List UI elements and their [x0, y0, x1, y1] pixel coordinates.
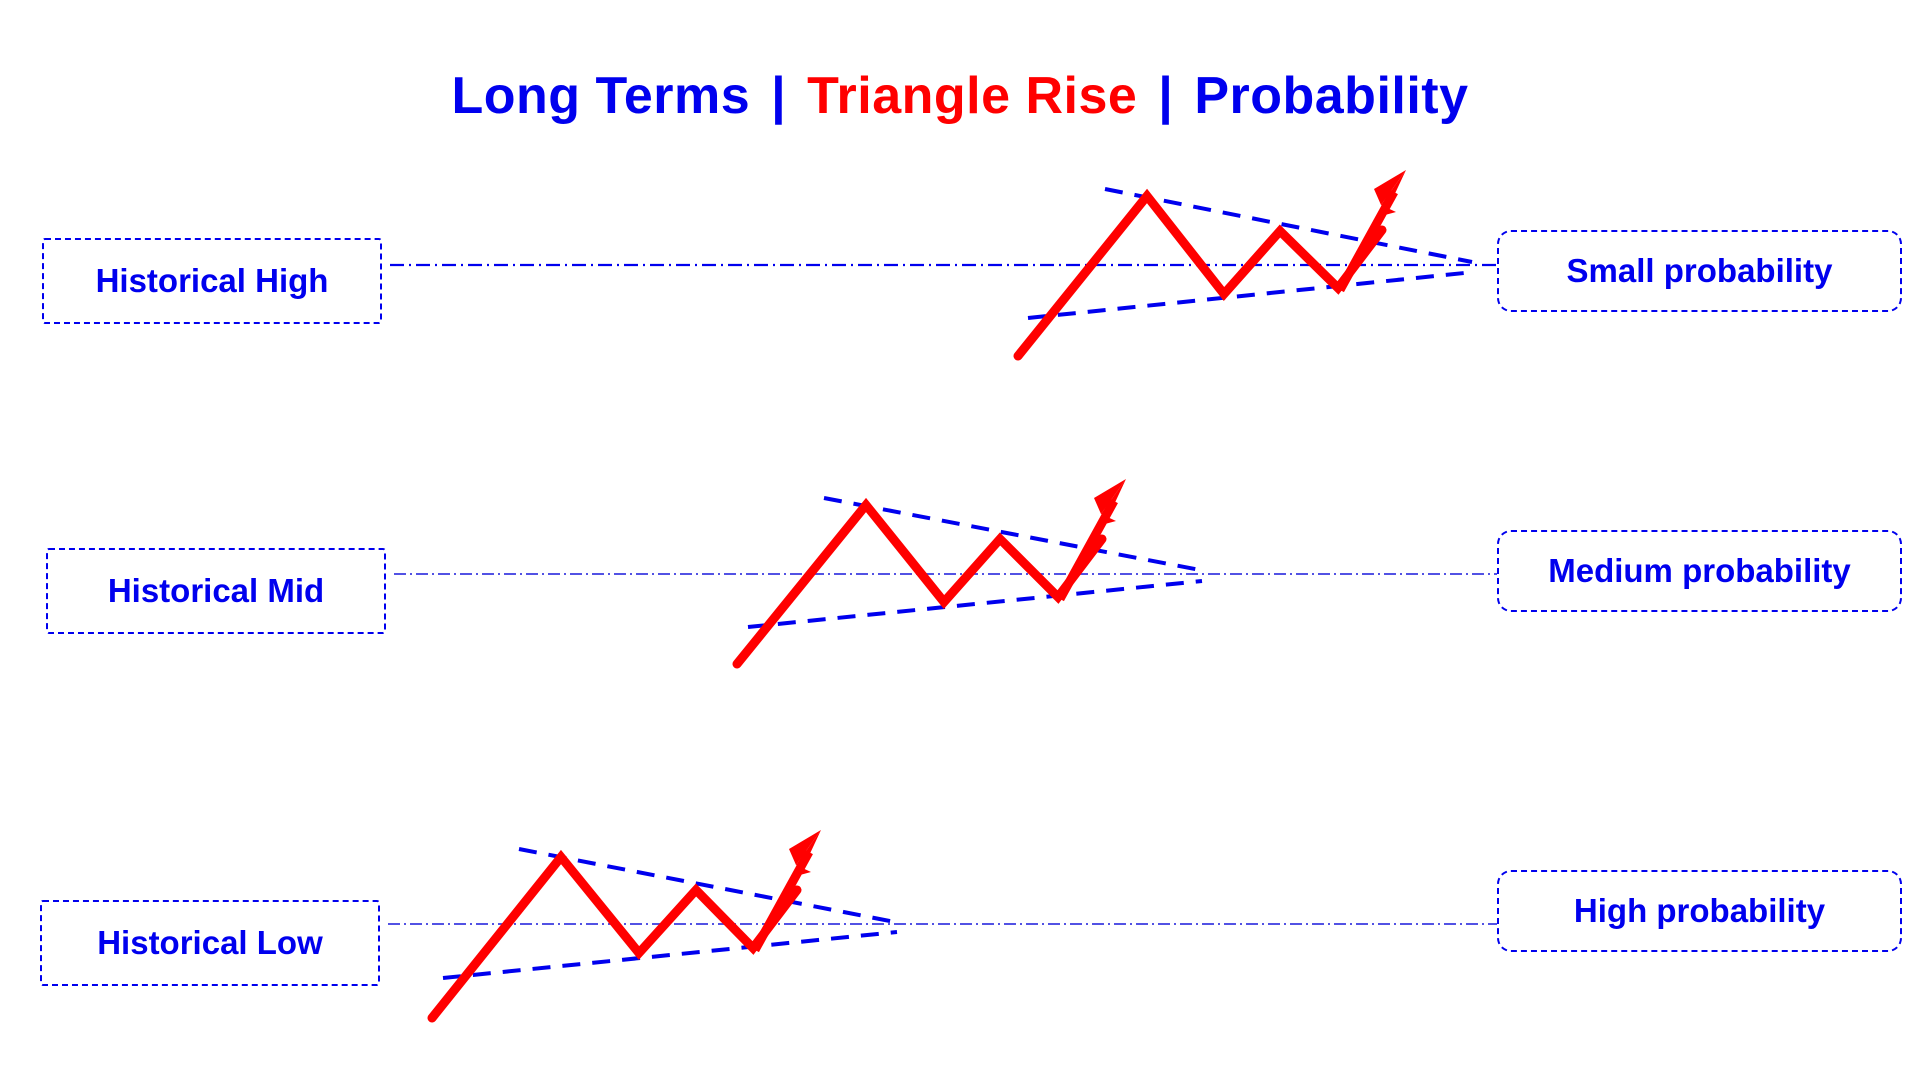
title-part-triangle-rise: Triangle Rise — [807, 67, 1137, 125]
upper-trendline-mid — [824, 498, 1200, 570]
row-historical-mid — [394, 479, 1497, 664]
lower-trendline-mid — [748, 581, 1202, 627]
label-historical-low[interactable]: Historical Low — [40, 900, 380, 986]
title-separator-1: | — [765, 67, 792, 125]
label-historical-mid-text: Historical Mid — [108, 572, 324, 610]
title-separator-2: | — [1152, 67, 1179, 125]
label-medium-probability[interactable]: Medium probability — [1497, 530, 1902, 612]
page-title: Long Terms | Triangle Rise | Probability — [0, 68, 1920, 125]
breakout-arrow-high — [1340, 170, 1406, 290]
upper-trendline-low — [519, 849, 895, 922]
row-historical-high — [390, 170, 1497, 356]
label-high-probability[interactable]: High probability — [1497, 870, 1902, 952]
label-historical-low-text: Historical Low — [97, 924, 323, 962]
label-historical-mid[interactable]: Historical Mid — [46, 548, 386, 634]
price-path-low — [432, 857, 797, 1018]
label-small-probability-text: Small probability — [1567, 252, 1833, 290]
lower-trendline-high — [1028, 272, 1474, 318]
title-part-probability: Probability — [1194, 67, 1468, 125]
label-small-probability[interactable]: Small probability — [1497, 230, 1902, 312]
upper-trendline-high — [1105, 189, 1472, 262]
title-part-long-terms: Long Terms — [451, 67, 750, 125]
price-path-mid — [737, 505, 1102, 664]
price-path-high — [1018, 196, 1382, 356]
label-high-probability-text: High probability — [1574, 892, 1825, 930]
label-historical-high[interactable]: Historical High — [42, 238, 382, 324]
row-historical-low — [388, 830, 1497, 1018]
label-historical-high-text: Historical High — [96, 262, 329, 300]
breakout-arrow-mid — [1060, 479, 1126, 599]
lower-trendline-low — [443, 932, 897, 978]
label-medium-probability-text: Medium probability — [1548, 552, 1851, 590]
breakout-arrow-low — [755, 830, 821, 950]
